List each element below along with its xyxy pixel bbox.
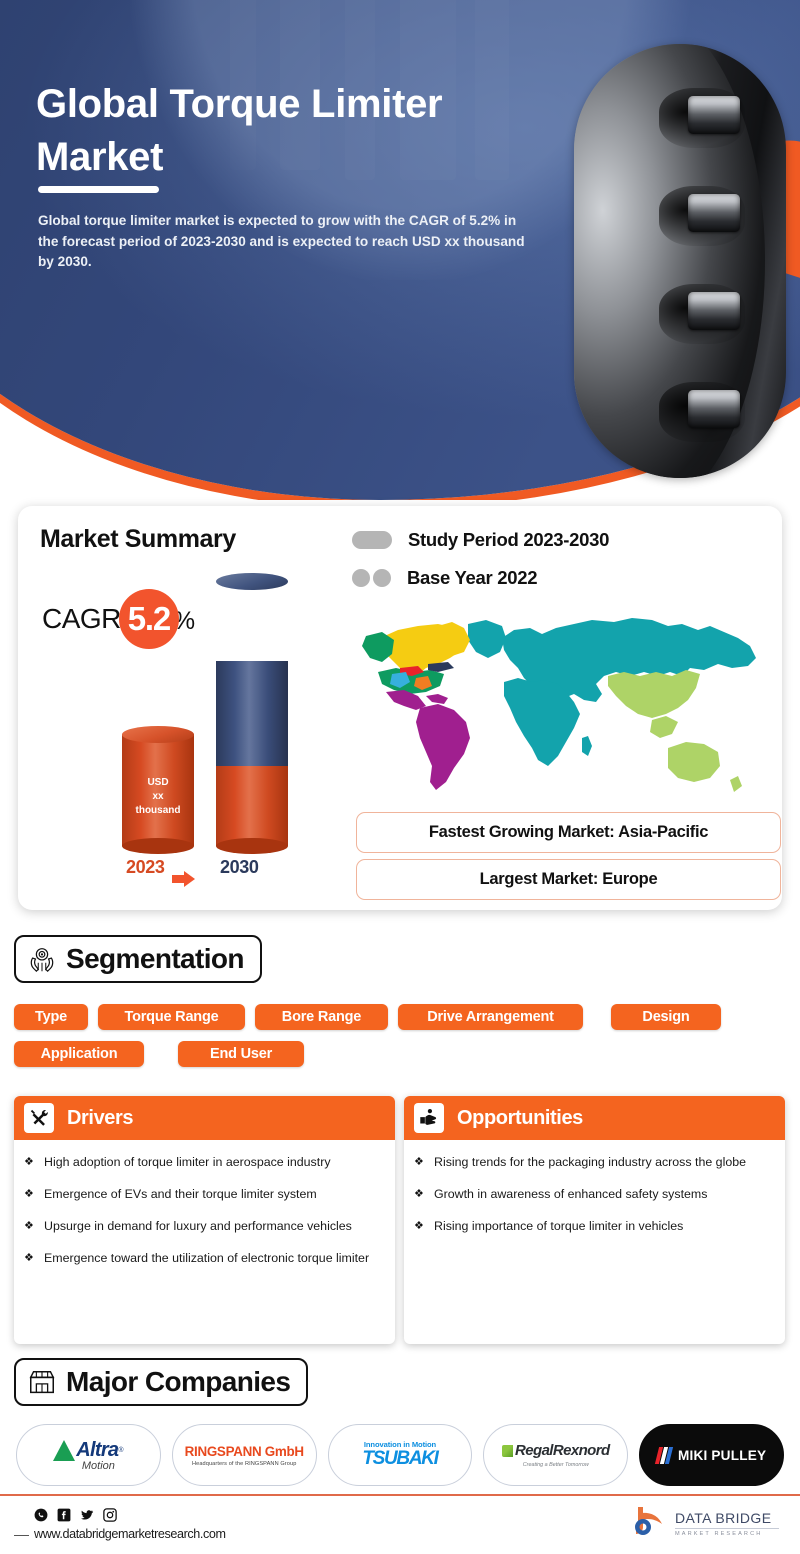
list-item-text: Emergence toward the utilization of elec… [44,1250,381,1267]
cagr-label: CAGR [42,603,121,635]
list-item-text: Emergence of EVs and their torque limite… [44,1186,381,1203]
opportunities-list: ❖Rising trends for the packaging industr… [404,1140,785,1235]
facebook-icon[interactable] [57,1508,71,1522]
hero-product-photo [574,44,786,478]
segment-pill-end-user[interactable]: End User [178,1041,304,1067]
list-item: ❖Growth in awareness of enhanced safety … [414,1186,771,1203]
map-region-nz [730,776,742,792]
segment-pill-design[interactable]: Design [611,1004,721,1030]
hands-holding-target-icon [27,944,57,974]
altra-tagline: Motion [82,1460,115,1472]
list-item: ❖Rising importance of torque limiter in … [414,1218,771,1235]
bullet-icon: ❖ [414,1186,434,1203]
title-underline [38,186,159,193]
list-item: ❖Emergence toward the utilization of ele… [24,1250,381,1267]
drivers-title: Drivers [67,1107,133,1130]
list-item: ❖Rising trends for the packaging industr… [414,1154,771,1171]
logo-miki-pulley: MIKI PULLEY [639,1424,784,1486]
regal-rexnord-name: RegalRexnord [515,1442,610,1459]
logo-altra-motion: Altra ® Motion [16,1424,161,1486]
list-item-text: Growth in awareness of enhanced safety s… [434,1186,771,1203]
footer: www.databridgemarketresearch.com DATA BR… [0,1496,800,1554]
cagr-badge: 5.2 [119,589,179,649]
segment-pill-application[interactable]: Application [14,1041,144,1067]
databridge-brand-line2: MARKET RESEARCH [675,1531,779,1537]
page-title: Global Torque Limiter Market [36,78,546,184]
bar-2023-year: 2023 [126,857,164,878]
ringspann-name: RINGSPANN GmbH [185,1444,304,1459]
bullet-icon: ❖ [414,1154,434,1171]
map-region-asia-pacific [608,670,700,718]
whatsapp-icon[interactable] [34,1508,48,1522]
opportunities-title: Opportunities [457,1107,583,1130]
bar-2030-year: 2030 [220,857,258,878]
map-region-madagascar [582,736,592,756]
bullet-icon: ❖ [24,1154,44,1171]
segment-pill-type[interactable]: Type [14,1004,88,1030]
market-summary-title: Market Summary [40,525,236,554]
cagr-value: 5.2 [128,602,170,635]
tsubaki-name: TSUBAKI [362,1448,437,1470]
databridge-mark-icon [630,1505,668,1541]
logo-ringspann-gmbh: RINGSPANN GmbH Headquarters of the RINGS… [172,1424,317,1486]
hero-header: Global Torque Limiter Market Global torq… [0,0,800,500]
bar-2030-value: USD xx thousand [216,591,288,634]
world-map [352,610,776,806]
map-region-south-america [416,704,470,790]
map-region-mexico [386,690,426,710]
list-item-text: High adoption of torque limiter in aeros… [44,1154,381,1171]
list-item-text: Rising importance of torque limiter in v… [434,1218,771,1235]
drivers-list: ❖High adoption of torque limiter in aero… [14,1140,395,1267]
major-companies-heading-label: Major Companies [66,1366,290,1398]
miki-pulley-name: MIKI PULLEY [678,1448,766,1463]
opportunities-header: Opportunities [404,1096,785,1140]
altra-name: Altra [76,1439,118,1462]
base-year-label: Base Year 2022 [407,567,537,589]
map-region-sea [650,716,678,738]
study-period-legend: Study Period 2023-2030 [352,529,609,551]
regal-rexnord-tagline: Creating a Better Tomorrow [523,1462,589,1468]
base-year-dot-icon [373,569,391,587]
logo-regal-rexnord: RegalRexnord Creating a Better Tomorrow [483,1424,628,1486]
list-item-text: Rising trends for the packaging industry… [434,1154,771,1171]
drivers-card: Drivers ❖High adoption of torque limiter… [14,1096,395,1344]
list-item: ❖High adoption of torque limiter in aero… [24,1154,381,1171]
bar-2023-value: USD xx thousand [122,776,194,819]
map-region-greenland [468,620,506,658]
list-item: ❖Upsurge in demand for luxury and perfor… [24,1218,381,1235]
list-item-text: Upsurge in demand for luxury and perform… [44,1218,381,1235]
list-item: ❖Emergence of EVs and their torque limit… [24,1186,381,1203]
major-companies-heading: Major Companies [14,1358,308,1406]
bullet-icon: ❖ [24,1186,44,1203]
segment-pill-drive-arrangement[interactable]: Drive Arrangement [398,1004,583,1030]
segment-pill-bore-range[interactable]: Bore Range [255,1004,388,1030]
wrench-screwdriver-icon [24,1103,54,1133]
opportunities-card: Opportunities ❖Rising trends for the pac… [404,1096,785,1344]
bar-2030: USD xx thousand [216,661,288,846]
logo-tsubaki: Innovation in Motion TSUBAKI [328,1424,473,1486]
cagr-display: CAGR 5.2 % [42,589,195,649]
drivers-header: Drivers [14,1096,395,1140]
segmentation-heading-label: Segmentation [66,943,244,975]
bullet-icon: ❖ [24,1218,44,1235]
twitter-icon[interactable] [80,1508,94,1522]
social-links[interactable] [34,1508,117,1522]
study-period-label: Study Period 2023-2030 [408,529,609,551]
altra-registered-mark: ® [118,1447,123,1454]
segmentation-heading: Segmentation [14,935,262,983]
bar-2023: USD xx thousand [122,734,194,846]
storefront-icon [27,1367,57,1397]
study-period-pill-icon [352,531,392,549]
bullet-icon: ❖ [414,1218,434,1235]
website-url[interactable]: www.databridgemarketresearch.com [34,1527,226,1541]
growth-bar-chart: USD xx thousand 2023 USD xx thousand 203… [104,654,334,882]
hand-offering-icon [414,1103,444,1133]
miki-pulley-bars-icon [655,1447,673,1464]
databridge-logo: DATA BRIDGE MARKET RESEARCH [630,1505,779,1541]
segment-pill-torque-range[interactable]: Torque Range [98,1004,245,1030]
altra-triangle-icon [53,1440,75,1461]
fastest-growing-market-callout: Fastest Growing Market: Asia-Pacific [356,812,781,853]
segmentation-pill-list: TypeTorque RangeBore RangeDrive Arrangem… [14,1004,786,1067]
market-summary-card: Market Summary Study Period 2023-2030 Ba… [18,506,782,910]
databridge-brand-line1: DATA BRIDGE [675,1510,779,1526]
bullet-icon: ❖ [24,1250,44,1267]
instagram-icon[interactable] [103,1508,117,1522]
map-region-caribbean [426,694,448,704]
largest-market-callout: Largest Market: Europe [356,859,781,900]
map-region-australia [668,742,720,782]
regal-rexnord-mark-icon [502,1445,513,1457]
base-year-dot-icon [352,569,370,587]
ringspann-tagline: Headquarters of the RINGSPANN Group [192,1461,296,1467]
base-year-legend: Base Year 2022 [352,567,537,589]
url-dash [14,1535,29,1536]
page-subtitle: Global torque limiter market is expected… [38,211,538,273]
company-logo-row: Altra ® Motion RINGSPANN GmbH Headquarte… [16,1424,784,1486]
